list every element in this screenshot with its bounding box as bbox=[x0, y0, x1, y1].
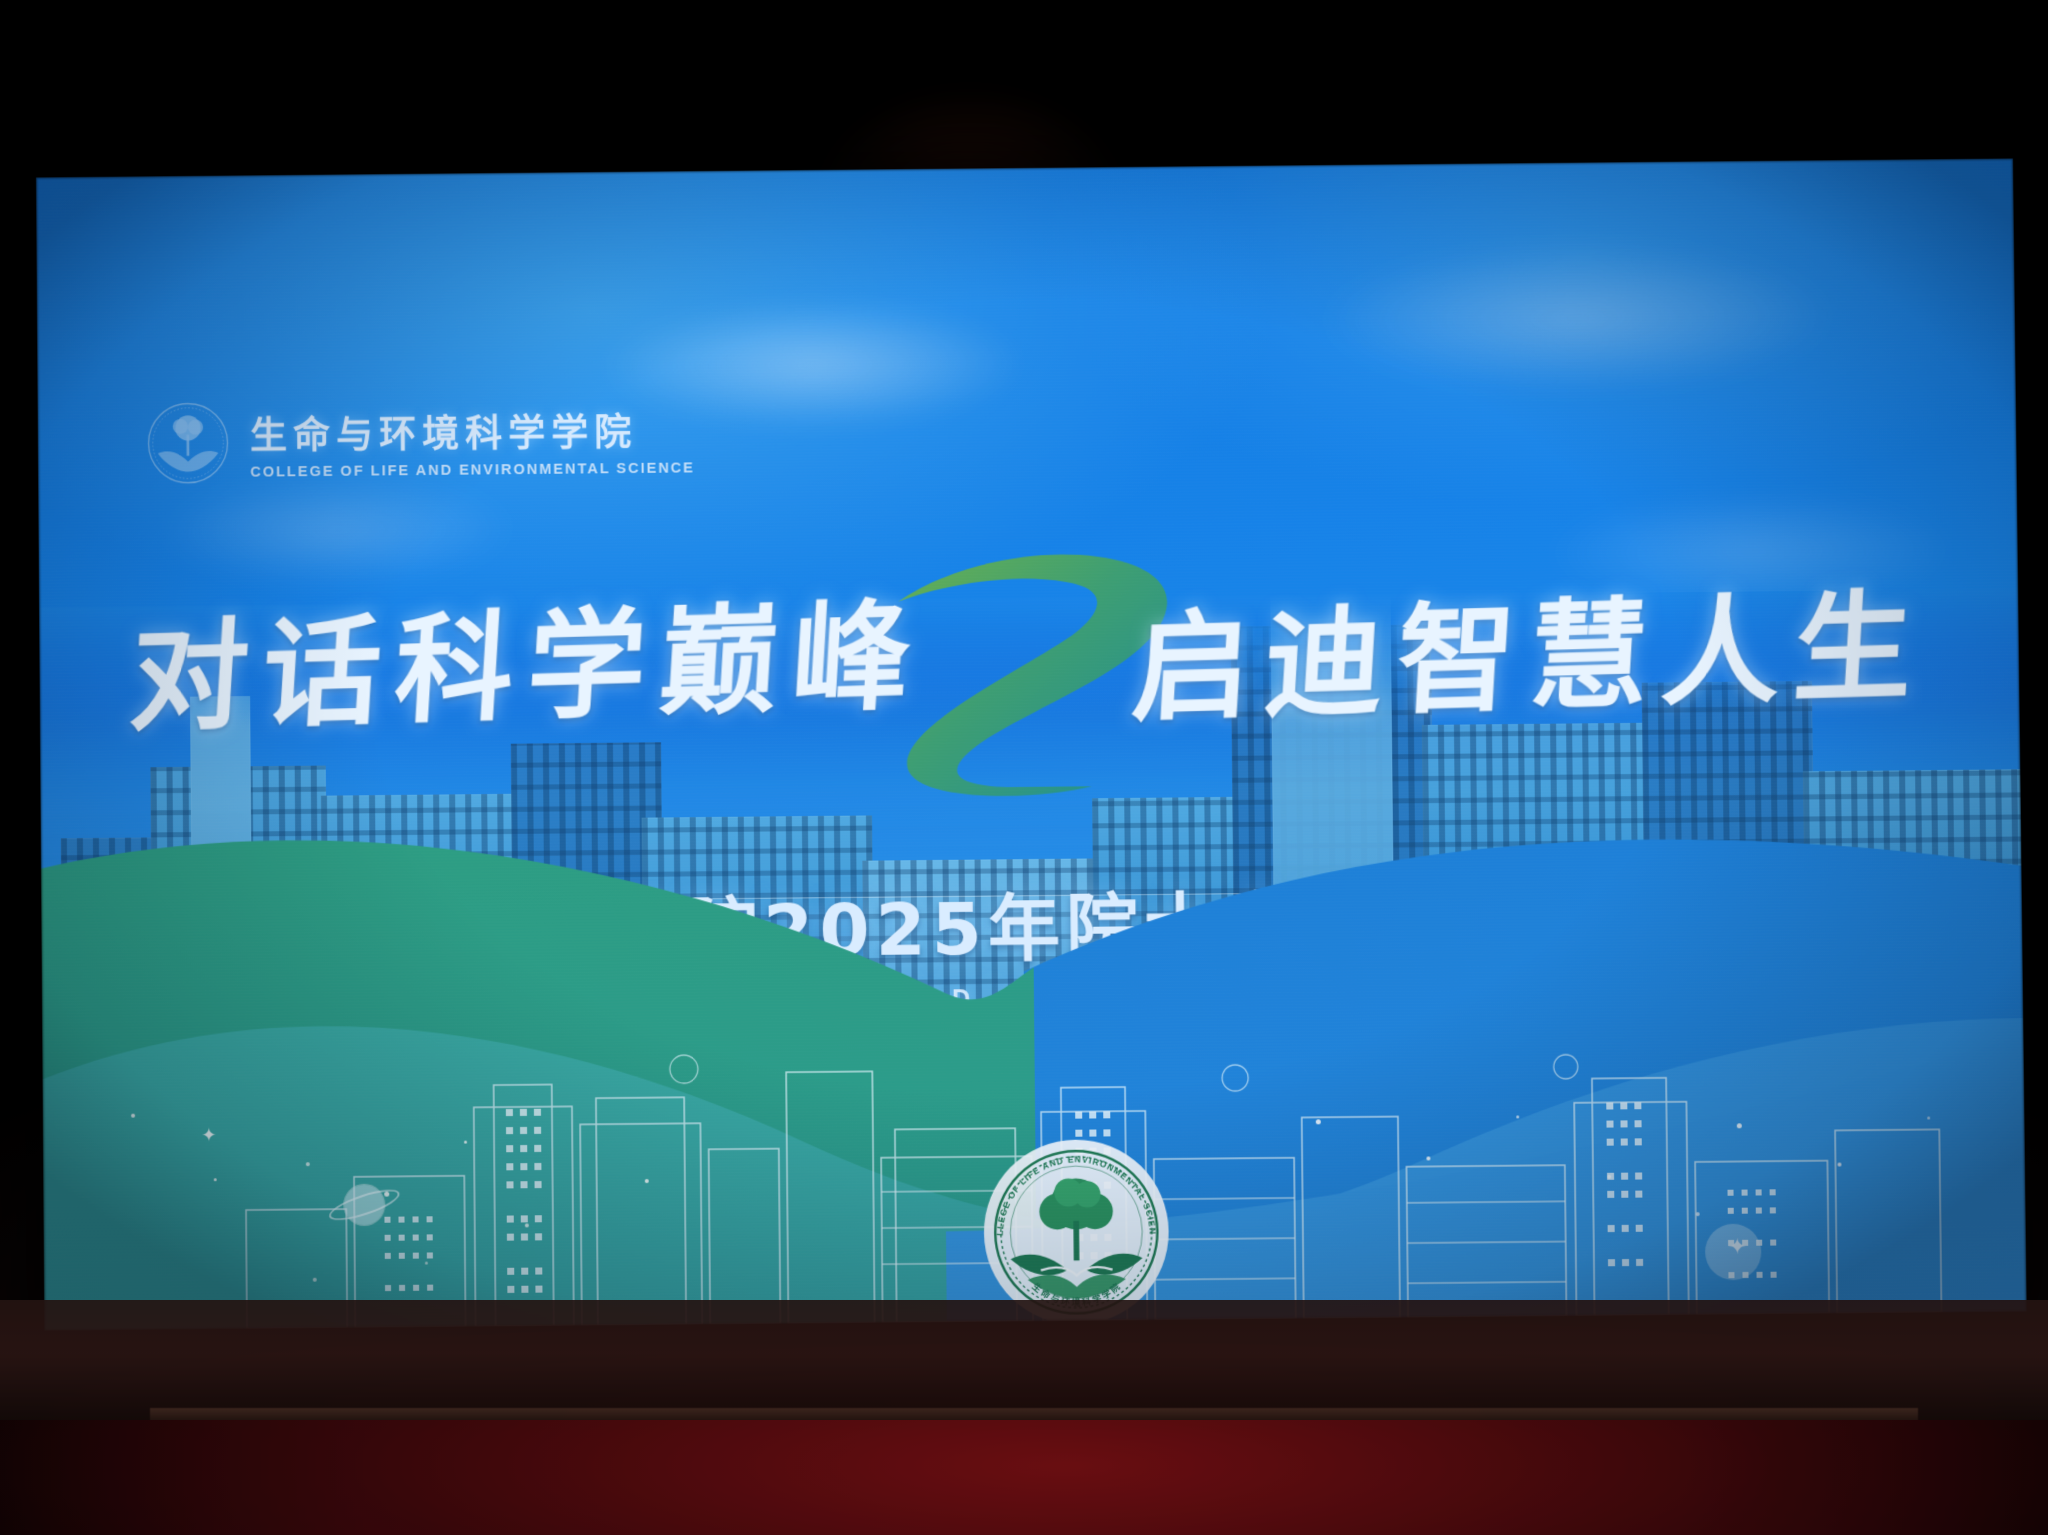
stage-wall bbox=[0, 1300, 2048, 1420]
stage-curtain bbox=[0, 1420, 2048, 1535]
auditorium-room: 生命与环境科学学院 COLLEGE OF LIFE AND ENVIRONMEN… bbox=[0, 0, 2048, 1535]
logo-name-en: COLLEGE OF LIFE AND ENVIRONMENTAL SCIENC… bbox=[250, 460, 695, 480]
college-logo: 生命与环境科学学院 COLLEGE OF LIFE AND ENVIRONMEN… bbox=[146, 396, 695, 485]
projection-screen: 生命与环境科学学院 COLLEGE OF LIFE AND ENVIRONMEN… bbox=[36, 159, 2027, 1331]
college-emblem-seal: COLLEGE OF LIFE AND ENVIRONMENTAL SCIENC… bbox=[981, 1137, 1171, 1328]
logo-name-cn: 生命与环境科学学院 bbox=[250, 401, 695, 459]
college-seal-icon bbox=[146, 401, 231, 486]
